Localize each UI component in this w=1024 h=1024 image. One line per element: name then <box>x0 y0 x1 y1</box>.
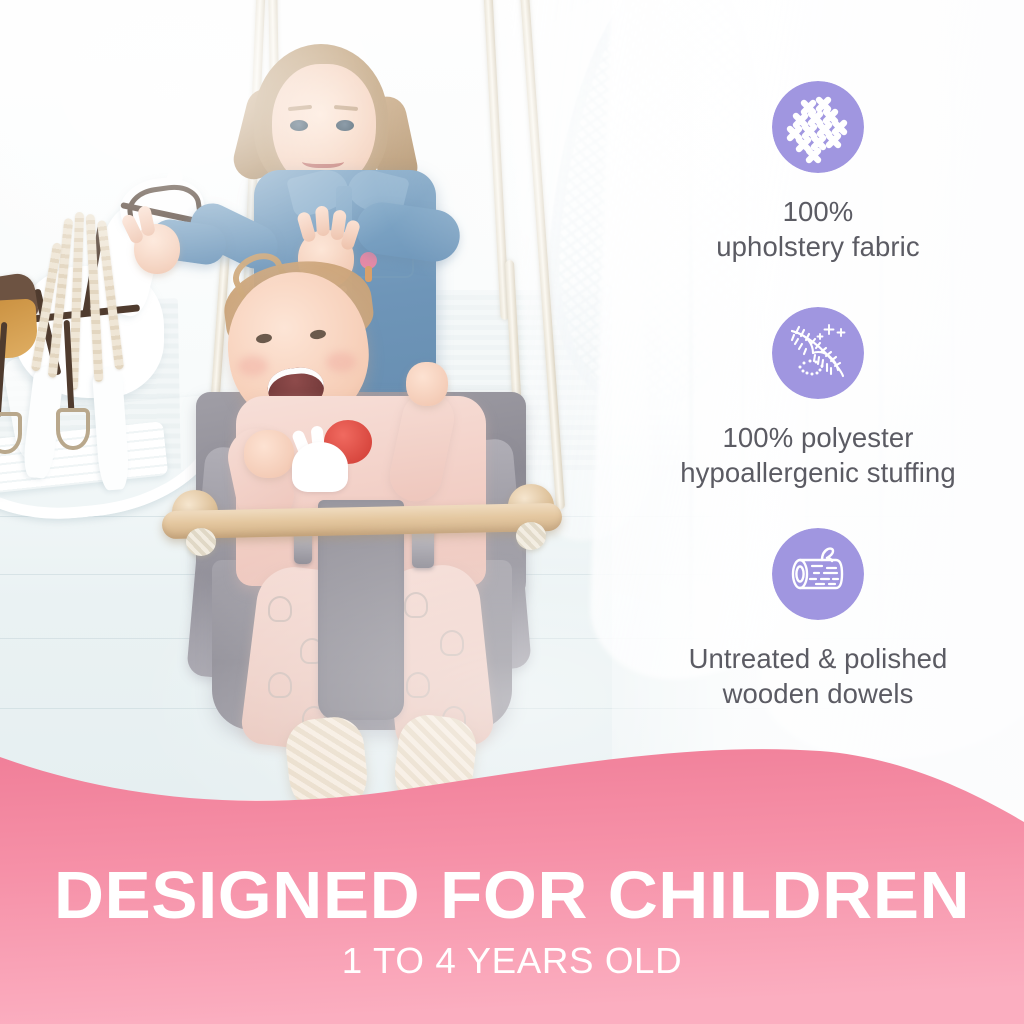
banner-headline: DESIGNED FOR CHILDREN <box>0 862 1024 929</box>
feature-caption: 100% upholstery fabric <box>612 195 1024 264</box>
rope-knot <box>516 522 546 550</box>
feature-item-upholstery-fabric: 100% upholstery fabric <box>612 81 1024 264</box>
rope-knot <box>186 528 216 556</box>
banner-subheadline: 1 TO 4 YEARS OLD <box>0 943 1024 979</box>
banner-text-block: DESIGNED FOR CHILDREN 1 TO 4 YEARS OLD <box>0 862 1024 979</box>
infographic-canvas: 100% upholstery fabric <box>0 0 1024 1024</box>
feature-caption: 100% polyester hypoallergenic stuffing <box>612 421 1024 490</box>
feather-icon <box>772 307 864 399</box>
woven-fabric-icon <box>772 81 864 173</box>
feature-caption: Untreated & polished wooden dowels <box>612 642 1024 711</box>
feature-item-wooden-dowels: Untreated & polished wooden dowels <box>612 528 1024 711</box>
wood-log-icon <box>772 528 864 620</box>
feature-list: 100% upholstery fabric <box>612 0 1024 740</box>
feature-item-polyester-stuffing: 100% polyester hypoallergenic stuffing <box>612 307 1024 490</box>
